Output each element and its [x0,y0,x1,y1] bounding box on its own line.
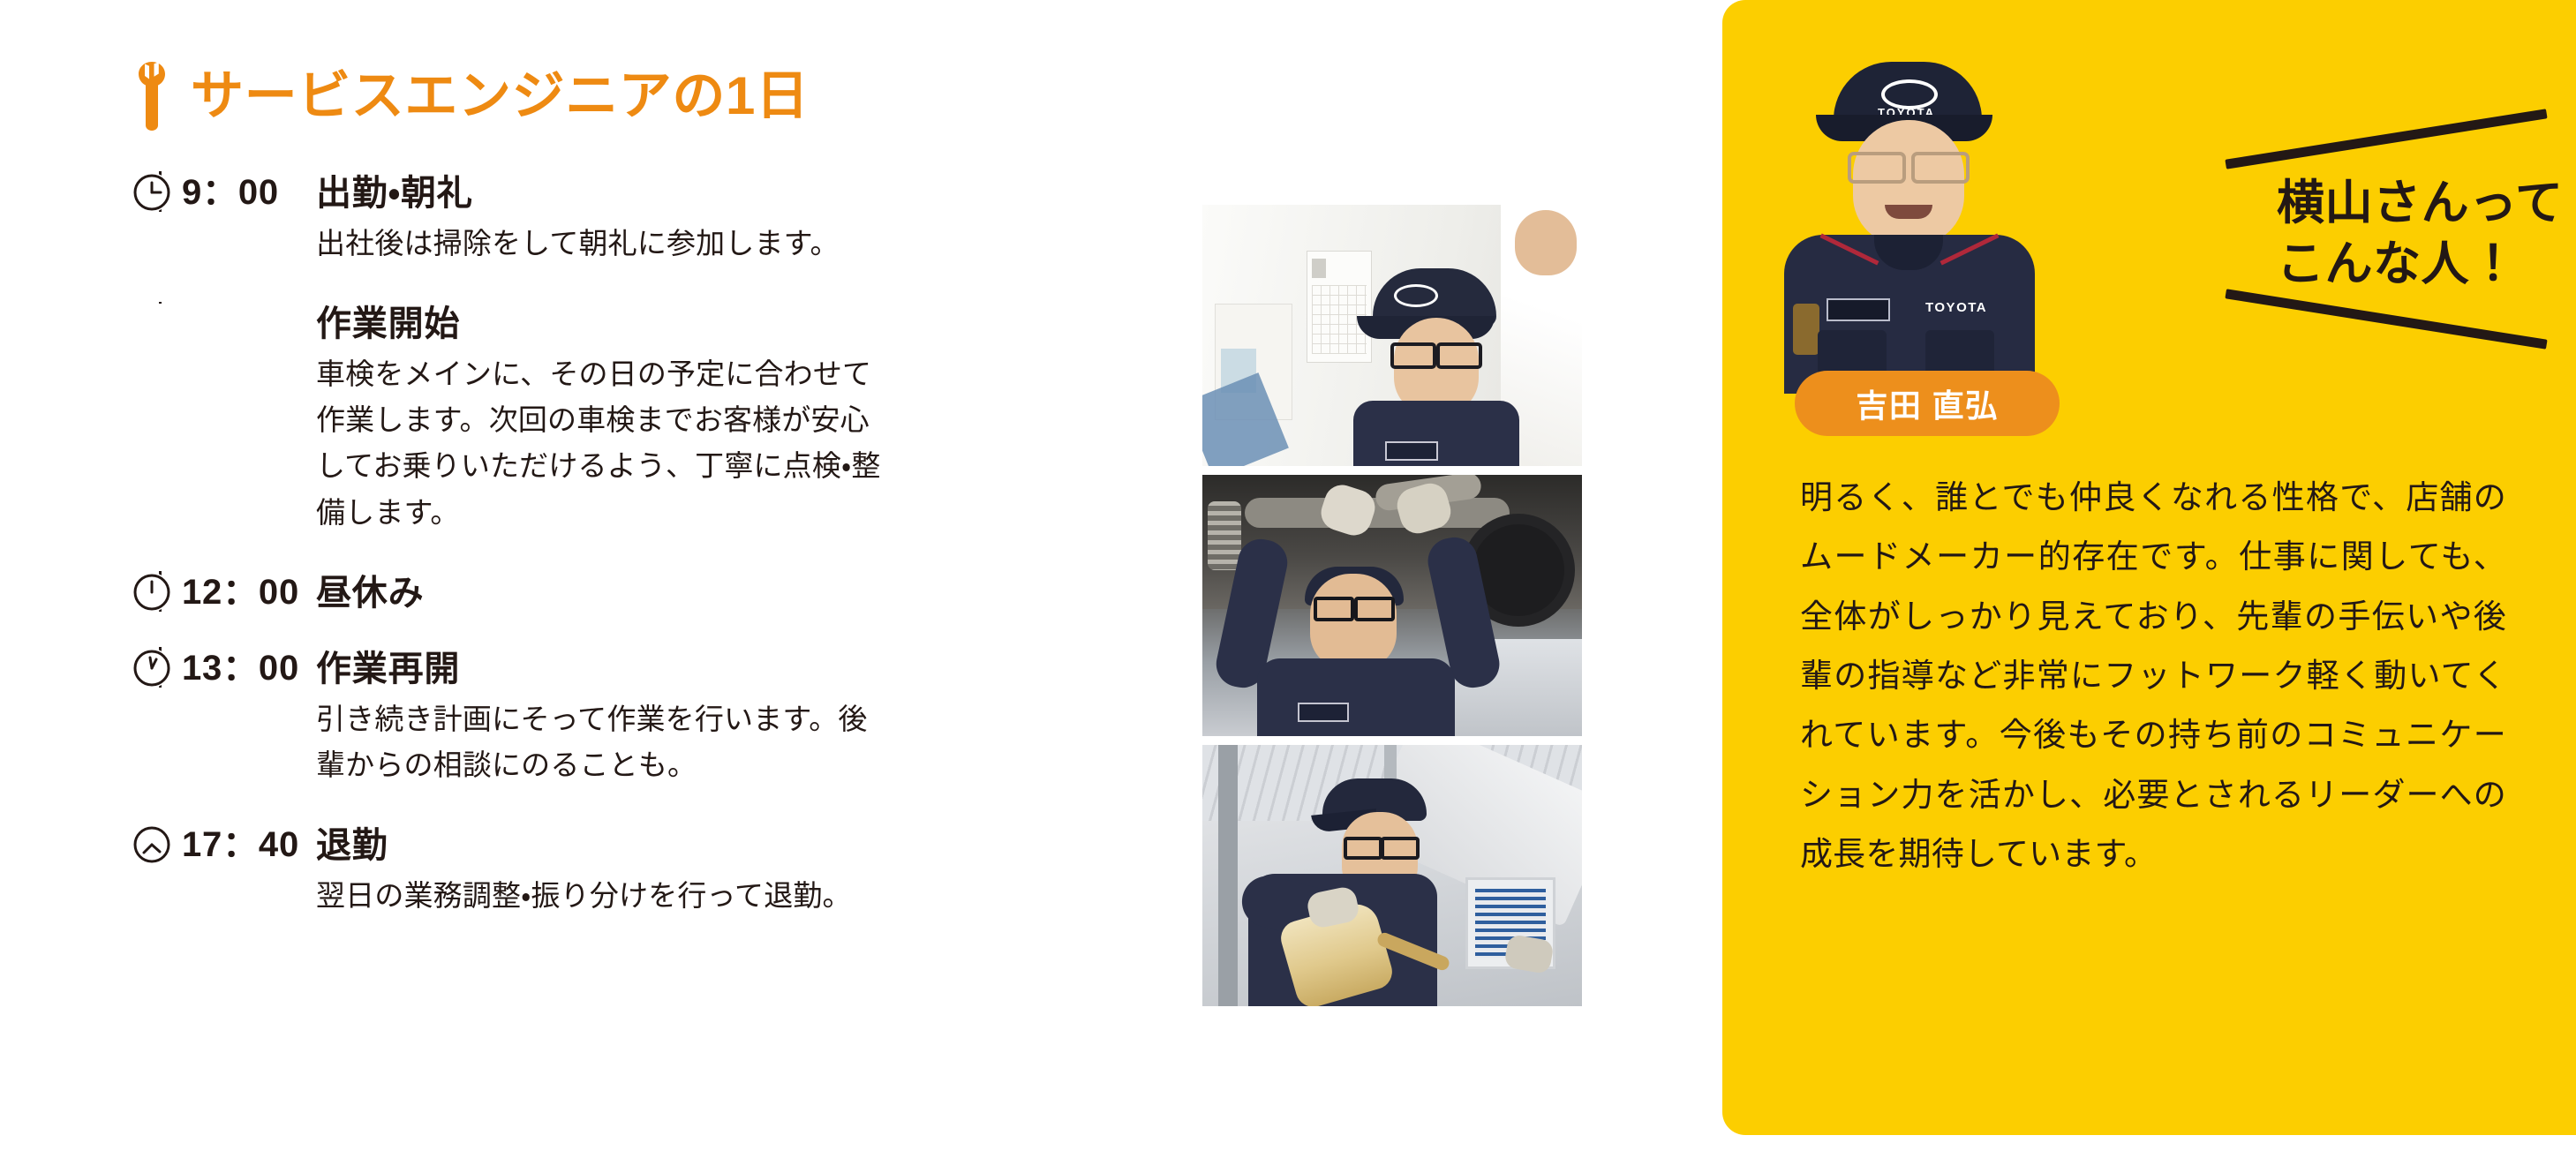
smile [1885,205,1932,219]
name-badge [1385,441,1438,461]
timeline-description: 車検をメインに、その日の予定に合わせて作業します。次回の車検までお客様が安心して… [316,351,881,536]
technician-figure [1245,778,1439,1006]
clock-9-icon [132,173,171,212]
timeline-heading: 出勤・朝礼 [316,171,1121,215]
photo-gallery [1202,205,1582,1006]
timeline-item: 13：00 作業再開 引き続き計画にそって作業を行います。後輩からの相談にのるこ… [132,647,1121,788]
glasses-icon [1344,837,1420,853]
timeline-content: 作業開始 車検をメインに、その日の予定に合わせて作業します。次回の車検までお客様… [309,302,1121,536]
status-badge: 吉田 直弘 [1795,371,2060,436]
glasses-icon [1314,597,1395,614]
timeline-time: 9：00 [182,173,279,212]
profile-panel: TOYOTA TOYOTA 横山さんって こんな人！ 吉田 直弘 明るく、誰とで… [1722,0,2576,1135]
photo-oil-change [1202,745,1582,1006]
wrench-icon [132,62,171,131]
profile-description: 明るく、誰とでも仲良くなれる性格で、店舗のムードメーカー的存在です。仕事に関して… [1800,468,2506,884]
timeline-heading: 退勤 [316,823,1121,868]
timeline-gutter: 13：00 [132,647,309,688]
page-title: サービスエンジニアの1日 [191,70,810,123]
timeline-description: 引き続き計画にそって作業を行います。後輩からの相談にのることも。 [316,696,881,788]
timeline-time: 13：00 [182,649,299,688]
technician-face [1310,574,1397,669]
colleague-head [1515,210,1577,275]
spacer [132,536,1121,571]
spacer [132,788,1121,823]
speech-headline: 横山さんって こんな人！ [2277,173,2564,295]
timeline-description: 翌日の業務調整・振り分けを行って退勤。 [316,873,881,919]
timeline-gutter [132,302,309,304]
glasses-icon [1390,342,1482,362]
avatar: TOYOTA TOYOTA [1777,39,2042,390]
speech-line-bottom [2225,289,2547,349]
timeline-time: 17：40 [182,825,299,864]
name-badge [1827,298,1890,321]
timeline-gutter: 12：00 [132,571,309,612]
speech-line-top [2225,109,2547,169]
clock-12-icon [132,573,171,612]
photo-technician-with-clipboard [1202,205,1582,466]
technician-figure [1348,268,1525,466]
timeline-gutter: 17：40 [132,823,309,864]
timeline-item: 17：40 退勤 翌日の業務調整・振り分けを行って退勤。 [132,823,1121,919]
timeline: 9：00 出勤・朝礼 出社後は掃除をして朝礼に参加します。 作業開始 車検をメイ… [132,171,1121,919]
shoulder-patch [1793,304,1819,355]
timeline-content: 出勤・朝礼 出社後は掃除をして朝礼に参加します。 [309,171,1121,267]
timeline-description: 出社後は掃除をして朝礼に参加します。 [316,221,881,267]
timeline-content: 作業再開 引き続き計画にそって作業を行います。後輩からの相談にのることも。 [309,647,1121,788]
section-heading: サービスエンジニアの1日 [132,62,1121,131]
timeline-heading: 作業再開 [316,647,1121,691]
timeline-content: 昼休み [309,571,1121,620]
suspension-spring [1208,501,1241,570]
toyota-logo-icon [1881,79,1938,109]
timeline-gutter: 9：00 [132,171,309,212]
technician-uniform [1257,658,1455,736]
timeline-item: 9：00 出勤・朝礼 出社後は掃除をして朝礼に参加します。 [132,171,1121,267]
timeline-heading: 作業開始 [316,302,1121,346]
timeline-item: 作業開始 車検をメインに、その日の予定に合わせて作業します。次回の車検までお客様… [132,302,1121,536]
toyota-logo-icon [1394,284,1438,307]
timeline-content: 退勤 翌日の業務調整・振り分けを行って退勤。 [309,823,1121,919]
glasses-icon [1848,152,1970,177]
timeline-item: 12：00 昼休み [132,571,1121,620]
toyota-chest-logo-icon: TOYOTA [1925,300,1987,315]
clock-13-icon [132,649,171,688]
timeline-time: 12：00 [182,573,299,612]
name-badge [1298,703,1349,722]
service-engineer-day-section: サービスエンジニアの1日 9：00 出勤・朝礼 出社後は掃除をして朝礼に参加しま… [132,62,1121,919]
photo-under-vehicle-inspection [1202,475,1582,736]
clock-1740-icon [132,825,171,864]
workshop-pillar [1218,745,1238,1006]
timeline-dashed-line [159,302,162,304]
spacer [132,620,1121,647]
profile-header: TOYOTA TOYOTA 横山さんって こんな人！ 吉田 直弘 [1722,0,2576,431]
spacer [132,267,1121,302]
timeline-heading: 昼休み [316,571,1121,615]
